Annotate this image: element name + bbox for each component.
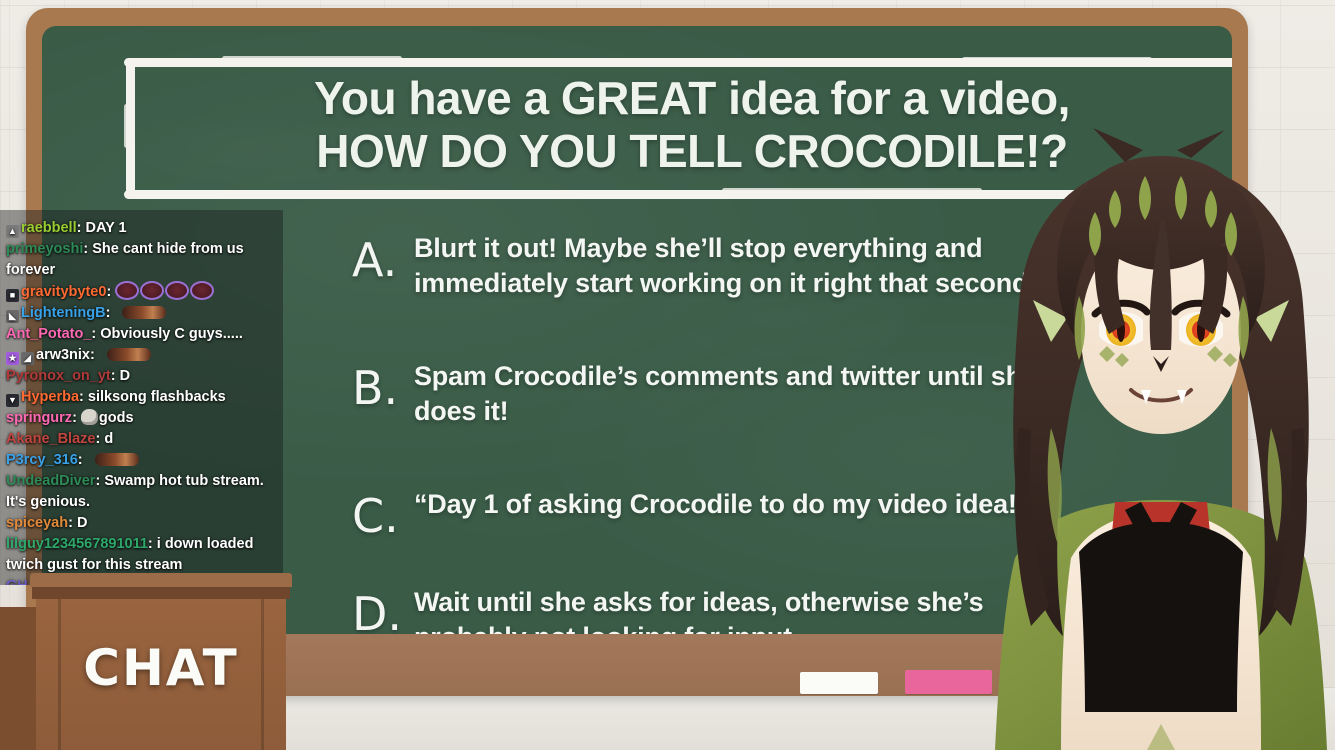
option-d-letter: D. [352, 585, 414, 634]
chat-message: ▼Hyperba: silksong flashbacks [6, 387, 277, 408]
chat-message: springurz: gods [6, 408, 277, 429]
chat-message: ◣LighteningB: [6, 303, 277, 324]
chat-username[interactable]: Hyperba [21, 389, 79, 405]
chat-podium: CHAT [30, 573, 292, 750]
chat-text: D [120, 368, 130, 384]
podium-chat-label: CHAT [30, 639, 292, 697]
chat-username[interactable]: Ant_Potato_ [6, 326, 91, 342]
option-b-text: Spam Crocodile’s comments and twitter un… [414, 359, 1052, 428]
chat-message: lilguy1234567891011: i down loaded twich… [6, 534, 277, 575]
pink-eraser[interactable] [905, 670, 992, 694]
emote-icon [107, 348, 151, 361]
chat-text: silksong flashbacks [88, 389, 226, 405]
chat-message: P3rcy_316: [6, 450, 277, 471]
chalk-texture [722, 188, 982, 193]
podium-top [30, 573, 292, 587]
skull-emote-icon [81, 409, 98, 425]
option-c[interactable]: C. “Day 1 of asking Crocodile to do my v… [352, 487, 1072, 539]
subscriber-badge-icon: ▲ [6, 225, 19, 238]
board-title: You have a GREAT idea for a video, HOW D… [102, 72, 1232, 179]
title-line-1: You have a GREAT idea for a video, [314, 72, 1070, 124]
chalk-texture [222, 56, 402, 61]
chalk-texture [602, 60, 822, 64]
chat-username[interactable]: UndeadDiver [6, 473, 95, 489]
chat-message: Akane_Blaze: d [6, 429, 277, 450]
chat-message: ▲raebbell: DAY 1 [6, 218, 277, 239]
channel-badge-icon: ▼ [6, 394, 19, 407]
chat-username[interactable]: P3rcy_316 [6, 452, 78, 468]
option-a[interactable]: A. Blurt it out! Maybe she’ll stop every… [352, 231, 1052, 300]
sub-badge-icon: ◢ [21, 352, 34, 365]
option-c-letter: C. [352, 487, 414, 539]
chalk-texture [262, 193, 502, 197]
podium-top-shadow [32, 587, 290, 599]
chat-message: spiceyah: D [6, 513, 277, 534]
chat-text: gods [99, 410, 134, 426]
emote-icon [115, 281, 139, 300]
chat-message: Ant_Potato_: Obviously C guys..... [6, 324, 277, 345]
yellow-chalk[interactable] [1007, 672, 1023, 692]
chat-username[interactable]: GH [6, 578, 28, 585]
chat-message: ★◢arw3nix: [6, 345, 277, 366]
emote-icon [95, 453, 139, 466]
chat-username[interactable]: springurz [6, 410, 72, 426]
chat-username[interactable]: Akane_Blaze [6, 431, 95, 447]
option-d[interactable]: D. Wait until she asks for ideas, otherw… [352, 585, 1052, 634]
option-a-letter: A. [352, 231, 414, 283]
emote-icon [165, 281, 189, 300]
vip-badge-icon: ★ [6, 352, 19, 365]
emote-icon [122, 306, 166, 319]
option-a-text: Blurt it out! Maybe she’ll stop everythi… [414, 231, 1052, 300]
chat-text: d [104, 431, 113, 447]
option-d-text: Wait until she asks for ideas, otherwise… [414, 585, 1052, 634]
chat-username[interactable]: spiceyah [6, 515, 68, 531]
chat-username[interactable]: primeyoshi [6, 241, 83, 257]
title-chalk-box: You have a GREAT idea for a video, HOW D… [102, 44, 1232, 202]
emote-icon [190, 281, 214, 300]
option-c-text: “Day 1 of asking Crocodile to do my vide… [414, 487, 1039, 522]
emote-icon [140, 281, 164, 300]
chat-overlay[interactable]: ▲raebbell: DAY 1 primeyoshi: She cant hi… [0, 210, 283, 585]
sub-badge-icon: ◣ [6, 310, 19, 323]
chat-username[interactable]: lilguy1234567891011 [6, 536, 148, 552]
chat-username[interactable]: Pyronox_on_yt [6, 368, 111, 384]
chat-username[interactable]: arw3nix [36, 347, 90, 363]
channel-badge-icon: ■ [6, 289, 19, 302]
chat-text: D [77, 515, 87, 531]
chat-message: ■gravitybyte0: [6, 281, 277, 303]
chat-username[interactable]: gravitybyte0 [21, 284, 106, 300]
chat-message: Pyronox_on_yt: D [6, 366, 277, 387]
chat-message: primeyoshi: She cant hide from us foreve… [6, 239, 277, 280]
white-chalk[interactable] [800, 672, 878, 694]
option-b[interactable]: B. Spam Crocodile’s comments and twitter… [352, 359, 1052, 428]
option-b-letter: B. [352, 359, 414, 411]
chat-username[interactable]: raebbell [21, 220, 77, 236]
chat-text: DAY 1 [85, 220, 126, 236]
chalk-texture [962, 57, 1152, 62]
chat-message: UndeadDiver: Swamp hot tub stream. It's … [6, 471, 277, 512]
chat-text: Obviously C guys..... [100, 326, 243, 342]
chat-username[interactable]: LighteningB [21, 305, 106, 321]
title-line-2: HOW DO YOU TELL CROCODILE!? [138, 125, 1232, 178]
